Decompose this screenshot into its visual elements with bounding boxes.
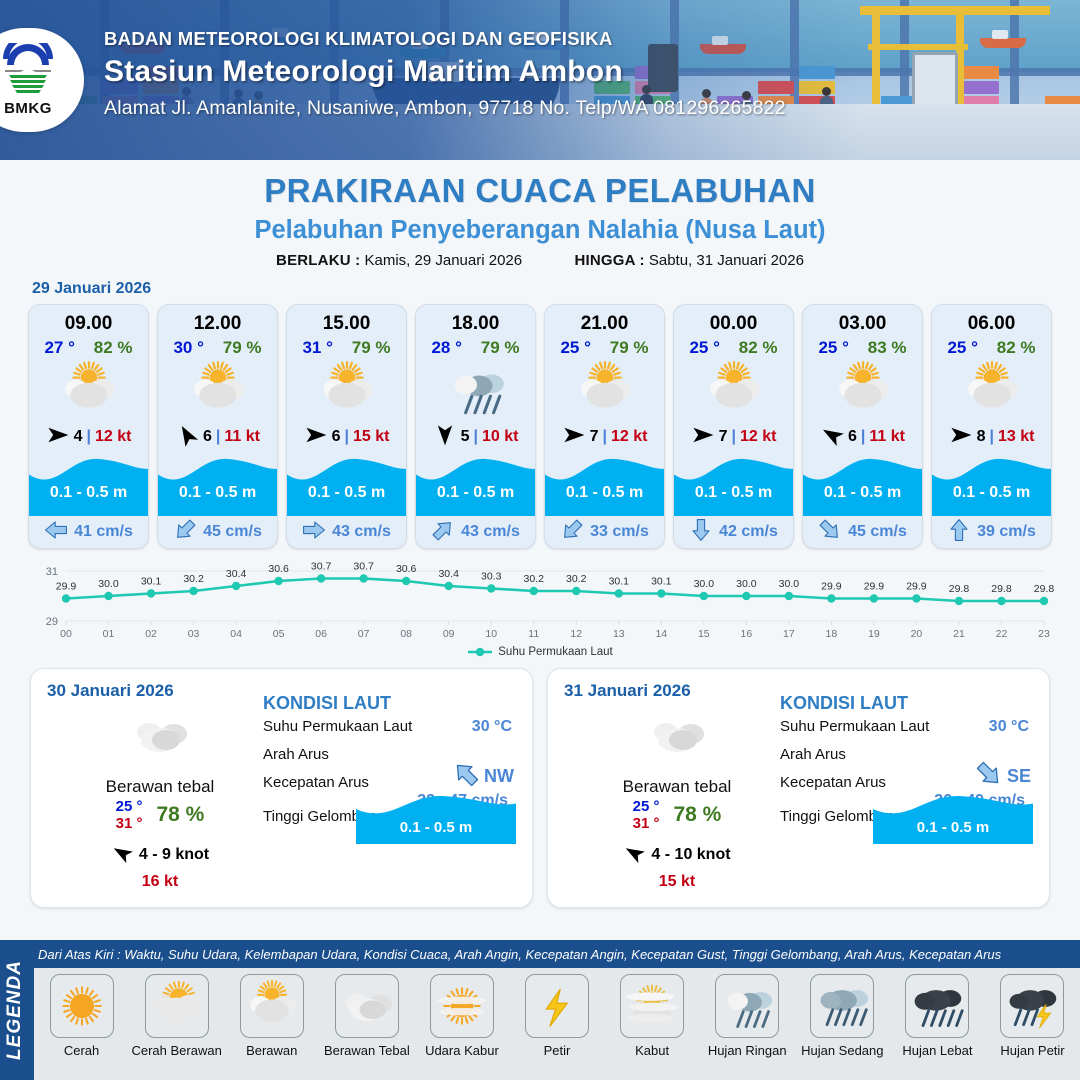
hourly-forecast-row: 09.0027 °82 %4|12 kt0.1 - 0.5 m41 cm/s12…: [0, 298, 1080, 549]
svg-text:19: 19: [868, 628, 880, 640]
wind-speed: 8: [977, 428, 986, 446]
wind-direction-arrow-icon: [562, 423, 586, 452]
sst-chart: 293129.90030.00130.10230.20330.40430.605…: [24, 557, 1056, 643]
legend-item-label: Berawan: [246, 1043, 297, 1058]
svg-text:30.6: 30.6: [396, 563, 417, 575]
wave-height-block: 0.1 - 0.5 m: [416, 454, 535, 516]
svg-text:30.2: 30.2: [183, 573, 204, 585]
divider: |: [989, 428, 993, 446]
legenda-vertical-label: LEGENDA: [0, 940, 32, 1080]
svg-text:31: 31: [46, 566, 58, 578]
daily-forecast-row: 30 Januari 2026Berawan tebal25 °31 °78 %…: [0, 658, 1080, 908]
svg-text:00: 00: [60, 628, 72, 640]
hourly-temperature: 30 °: [173, 338, 203, 358]
svg-text:29.8: 29.8: [949, 583, 970, 595]
weather-hujan-ringan-icon: [715, 974, 779, 1038]
label-current-direction: Arah Arus: [780, 746, 846, 763]
current-speed: 45 cm/s: [848, 523, 907, 541]
wind-speed: 6: [203, 428, 212, 446]
hourly-time: 15.00: [287, 305, 406, 335]
daily-forecast-card: 31 Januari 2026Berawan tebal25 °31 °78 %…: [547, 668, 1050, 908]
sea-conditions-title: KONDISI LAUT: [263, 693, 522, 714]
legend-item: Hujan Lebat: [890, 974, 985, 1058]
wind-speed: 5: [461, 428, 470, 446]
svg-text:30.7: 30.7: [311, 561, 332, 573]
weather-cerah-icon: [50, 974, 114, 1038]
wind-direction-arrow-icon: [304, 423, 328, 452]
daily-forecast-card: 30 Januari 2026Berawan tebal25 °31 °78 %…: [30, 668, 533, 908]
weather-hujan-lebat-icon: [905, 974, 969, 1038]
wind-direction-arrow-icon: [433, 423, 457, 452]
svg-text:04: 04: [230, 628, 242, 640]
svg-text:30.1: 30.1: [609, 576, 630, 588]
sst-chart-svg: 293129.90030.00130.10230.20330.40430.605…: [24, 557, 1056, 643]
label-current-speed: Kecepatan Arus: [263, 774, 369, 791]
forecast-day-label: 29 Januari 2026: [32, 280, 1080, 298]
daily-humidity: 78 %: [673, 803, 721, 827]
wave-height-block: 0.1 - 0.5 m: [29, 454, 148, 516]
svg-text:30.0: 30.0: [98, 578, 119, 590]
svg-text:30.0: 30.0: [779, 578, 800, 590]
weather-berawan-tebal-icon: [335, 974, 399, 1038]
hourly-humidity: 79 %: [610, 338, 649, 358]
legend-item: Hujan Sedang: [795, 974, 890, 1058]
svg-text:29.9: 29.9: [906, 581, 927, 593]
svg-text:10: 10: [485, 628, 497, 640]
hourly-time: 12.00: [158, 305, 277, 335]
validity-line: BERLAKU : Kamis, 29 Januari 2026 HINGGA …: [0, 252, 1080, 269]
wind-gust: 10 kt: [482, 428, 518, 446]
svg-text:30.4: 30.4: [226, 568, 247, 580]
weather-berawan-icon: [674, 360, 793, 420]
wind-gust: 11 kt: [869, 428, 905, 446]
weather-hujan-sedang-icon: [810, 974, 874, 1038]
weather-berawan-icon: [932, 360, 1051, 420]
svg-text:30.1: 30.1: [141, 576, 162, 588]
wind-gust: 13 kt: [998, 428, 1034, 446]
legend-item-label: Petir: [544, 1043, 571, 1058]
svg-text:13: 13: [613, 628, 625, 640]
wind-direction-arrow-icon: [949, 423, 973, 452]
current-direction-arrow-icon: [173, 518, 197, 547]
daily-wind-range: 4 - 10 knot: [651, 846, 730, 864]
legend-item: Berawan Tebal: [319, 974, 414, 1058]
wind-gust: 12 kt: [740, 428, 776, 446]
wave-height-block: 0.1 - 0.5 m: [287, 454, 406, 516]
svg-text:16: 16: [741, 628, 753, 640]
current-speed: 42 cm/s: [719, 523, 778, 541]
wave-height: 0.1 - 0.5 m: [29, 484, 148, 502]
hourly-temperature: 25 °: [947, 338, 977, 358]
label-sst: Suhu Permukaan Laut: [263, 718, 412, 735]
wind-gust: 12 kt: [95, 428, 131, 446]
chart-legend-marker-icon: [467, 647, 493, 657]
weather-hujan-petir-icon: [1000, 974, 1064, 1038]
station-name: Stasiun Meteorologi Maritim Ambon: [104, 55, 786, 89]
weather-hujan-ringan-icon: [416, 360, 535, 420]
wind-gust: 12 kt: [611, 428, 647, 446]
hourly-humidity: 82 %: [94, 338, 133, 358]
weather-petir-icon: [525, 974, 589, 1038]
svg-text:01: 01: [103, 628, 115, 640]
chart-legend-label: Suhu Permukaan Laut: [498, 646, 612, 658]
hourly-time: 06.00: [932, 305, 1051, 335]
wave-height: 0.1 - 0.5 m: [287, 484, 406, 502]
weather-berawan-icon: [240, 974, 304, 1038]
legend-strip: LEGENDA Dari Atas Kiri : Waktu, Suhu Uda…: [0, 940, 1080, 1080]
weather-berawan-tebal-icon: [582, 707, 772, 765]
wave-height-block: 0.1 - 0.5 m: [356, 792, 516, 844]
svg-text:29.9: 29.9: [56, 581, 77, 593]
hourly-time: 09.00: [29, 305, 148, 335]
wind-speed: 7: [719, 428, 728, 446]
svg-text:30.2: 30.2: [524, 573, 545, 585]
current-speed: 45 cm/s: [203, 523, 262, 541]
legend-item-label: Cerah: [64, 1043, 99, 1058]
svg-text:30.3: 30.3: [481, 571, 502, 583]
wind-gust: 15 kt: [353, 428, 389, 446]
value-sst: 30 °C: [989, 718, 1029, 736]
legend-item-label: Kabut: [635, 1043, 669, 1058]
current-direction-arrow-icon: [947, 518, 971, 547]
hourly-humidity: 79 %: [223, 338, 262, 358]
weather-cerah-berawan-icon: [145, 974, 209, 1038]
svg-text:29.8: 29.8: [1034, 583, 1055, 595]
legend-item: Cerah Berawan: [129, 974, 224, 1058]
current-speed: 43 cm/s: [461, 523, 520, 541]
current-direction-arrow-icon: [689, 518, 713, 547]
daily-temp-max: 31 °: [633, 815, 660, 832]
legend-item-label: Udara Kabur: [425, 1043, 499, 1058]
daily-gust: 16 kt: [65, 873, 255, 891]
hourly-time: 21.00: [545, 305, 664, 335]
divider: |: [473, 428, 477, 446]
divider: |: [344, 428, 348, 446]
current-speed: 33 cm/s: [590, 523, 649, 541]
divider: |: [731, 428, 735, 446]
weather-berawan-icon: [545, 360, 664, 420]
wind-direction-arrow-icon: [820, 423, 844, 452]
hourly-card: 00.0025 °82 %7|12 kt0.1 - 0.5 m42 cm/s: [673, 304, 794, 549]
hourly-temperature: 27 °: [44, 338, 74, 358]
weather-kabut-icon: [620, 974, 684, 1038]
weather-berawan-icon: [287, 360, 406, 420]
wave-height: 0.1 - 0.5 m: [158, 484, 277, 502]
legend-item: Hujan Petir: [985, 974, 1080, 1058]
hourly-card: 18.0028 °79 %5|10 kt0.1 - 0.5 m43 cm/s: [415, 304, 536, 549]
label-sst: Suhu Permukaan Laut: [780, 718, 929, 735]
label-current-speed: Kecepatan Arus: [780, 774, 886, 791]
wave-height: 0.1 - 0.5 m: [674, 484, 793, 502]
hourly-temperature: 28 °: [431, 338, 461, 358]
svg-text:07: 07: [358, 628, 370, 640]
wind-direction-arrow-icon: [691, 423, 715, 452]
svg-text:08: 08: [400, 628, 412, 640]
weather-berawan-icon: [29, 360, 148, 420]
daily-temp-min: 25 °: [116, 798, 143, 815]
svg-text:23: 23: [1038, 628, 1050, 640]
svg-text:03: 03: [188, 628, 200, 640]
wind-speed: 6: [848, 428, 857, 446]
divider: |: [216, 428, 220, 446]
svg-text:09: 09: [443, 628, 455, 640]
weather-berawan-icon: [803, 360, 922, 420]
daily-temp-min: 25 °: [633, 798, 660, 815]
current-direction-arrow-icon: [560, 518, 584, 547]
daily-humidity: 78 %: [156, 803, 204, 827]
legend-item-label: Hujan Sedang: [801, 1043, 883, 1058]
hourly-card: 15.0031 °79 %6|15 kt0.1 - 0.5 m43 cm/s: [286, 304, 407, 549]
wind-direction-arrow-icon: [46, 423, 70, 452]
wave-height: 0.1 - 0.5 m: [932, 484, 1051, 502]
svg-text:30.7: 30.7: [353, 561, 374, 573]
wind-speed: 6: [332, 428, 341, 446]
svg-text:02: 02: [145, 628, 157, 640]
hourly-humidity: 82 %: [739, 338, 778, 358]
current-direction-arrow-icon: [302, 518, 326, 547]
legend-item: Cerah: [34, 974, 129, 1058]
daily-condition: Berawan tebal: [65, 777, 255, 797]
hourly-time: 03.00: [803, 305, 922, 335]
wave-height: 0.1 - 0.5 m: [803, 484, 922, 502]
current-speed: 39 cm/s: [977, 523, 1036, 541]
valid-until-value: Sabtu, 31 Januari 2026: [649, 252, 804, 269]
current-speed: 41 cm/s: [74, 523, 133, 541]
current-direction-arrow-icon: [818, 518, 842, 547]
svg-text:30.0: 30.0: [694, 578, 715, 590]
valid-from-label: BERLAKU :: [276, 252, 360, 269]
divider: |: [602, 428, 606, 446]
wind-gust: 11 kt: [224, 428, 260, 446]
wind-speed: 4: [74, 428, 83, 446]
weather-berawan-tebal-icon: [65, 707, 255, 765]
bmkg-logo-text: BMKG: [4, 100, 52, 117]
wave-height: 0.1 - 0.5 m: [545, 484, 664, 502]
svg-text:30.4: 30.4: [438, 568, 459, 580]
hourly-humidity: 82 %: [997, 338, 1036, 358]
svg-text:05: 05: [273, 628, 285, 640]
hourly-temperature: 31 °: [302, 338, 332, 358]
wind-direction-arrow-icon: [623, 842, 645, 869]
hourly-card: 09.0027 °82 %4|12 kt0.1 - 0.5 m41 cm/s: [28, 304, 149, 549]
svg-text:29.9: 29.9: [864, 581, 885, 593]
hourly-humidity: 83 %: [868, 338, 907, 358]
hourly-humidity: 79 %: [481, 338, 520, 358]
wave-height-block: 0.1 - 0.5 m: [932, 454, 1051, 516]
daily-gust: 15 kt: [582, 873, 772, 891]
svg-text:11: 11: [528, 628, 539, 640]
svg-text:12: 12: [570, 628, 582, 640]
wave-height-block: 0.1 - 0.5 m: [674, 454, 793, 516]
hourly-temperature: 25 °: [689, 338, 719, 358]
value-sst: 30 °C: [472, 718, 512, 736]
hourly-temperature: 25 °: [818, 338, 848, 358]
page-title: PRAKIRAAN CUACA PELABUHAN: [0, 172, 1080, 210]
wave-height-block: 0.1 - 0.5 m: [873, 792, 1033, 844]
legend-item: Kabut: [605, 974, 700, 1058]
daily-wind-range: 4 - 9 knot: [139, 846, 209, 864]
legend-icon-row: CerahCerah BerawanBerawanBerawan TebalUd…: [34, 968, 1080, 1080]
svg-text:06: 06: [315, 628, 327, 640]
page-subtitle: Pelabuhan Penyeberangan Nalahia (Nusa La…: [0, 216, 1080, 245]
weather-udara-kabur-icon: [430, 974, 494, 1038]
legend-item-label: Hujan Petir: [1000, 1043, 1064, 1058]
svg-text:21: 21: [953, 628, 965, 640]
hourly-card: 06.0025 °82 %8|13 kt0.1 - 0.5 m39 cm/s: [931, 304, 1052, 549]
hourly-humidity: 79 %: [352, 338, 391, 358]
legend-item: Udara Kabur: [414, 974, 509, 1058]
current-direction-arrow-icon: [431, 518, 455, 547]
valid-from-value: Kamis, 29 Januari 2026: [365, 252, 523, 269]
legend-item-label: Hujan Ringan: [708, 1043, 787, 1058]
station-address: Alamat Jl. Amanlanite, Nusaniwe, Ambon, …: [104, 97, 786, 120]
svg-text:30.2: 30.2: [566, 573, 587, 585]
svg-text:20: 20: [911, 628, 923, 640]
current-speed: 43 cm/s: [332, 523, 391, 541]
hourly-card: 21.0025 °79 %7|12 kt0.1 - 0.5 m33 cm/s: [544, 304, 665, 549]
chart-legend: Suhu Permukaan Laut: [0, 646, 1080, 658]
hourly-card: 03.0025 °83 %6|11 kt0.1 - 0.5 m45 cm/s: [802, 304, 923, 549]
divider: |: [86, 428, 90, 446]
sea-conditions-title: KONDISI LAUT: [780, 693, 1039, 714]
page-header: BMKG BADAN METEOROLOGI KLIMATOLOGI DAN G…: [0, 0, 1080, 160]
svg-text:22: 22: [996, 628, 1008, 640]
legend-item: Berawan: [224, 974, 319, 1058]
wind-direction-arrow-icon: [175, 423, 199, 452]
legend-item-label: Berawan Tebal: [324, 1043, 410, 1058]
title-block: PRAKIRAAN CUACA PELABUHAN Pelabuhan Peny…: [0, 172, 1080, 269]
hourly-temperature: 25 °: [560, 338, 590, 358]
divider: |: [861, 428, 865, 446]
svg-text:30.0: 30.0: [736, 578, 757, 590]
wave-height: 0.1 - 0.5 m: [416, 484, 535, 502]
svg-text:30.1: 30.1: [651, 576, 672, 588]
legend-item-label: Hujan Lebat: [902, 1043, 972, 1058]
current-direction-arrow-icon: [44, 518, 68, 547]
weather-berawan-icon: [158, 360, 277, 420]
wave-height-block: 0.1 - 0.5 m: [158, 454, 277, 516]
svg-text:18: 18: [826, 628, 838, 640]
wind-direction-arrow-icon: [111, 842, 133, 869]
wave-height-block: 0.1 - 0.5 m: [545, 454, 664, 516]
label-current-direction: Arah Arus: [263, 746, 329, 763]
hourly-card: 12.0030 °79 %6|11 kt0.1 - 0.5 m45 cm/s: [157, 304, 278, 549]
daily-condition: Berawan tebal: [582, 777, 772, 797]
svg-text:17: 17: [783, 628, 795, 640]
legend-item: Hujan Ringan: [700, 974, 795, 1058]
daily-temp-max: 31 °: [116, 815, 143, 832]
wind-speed: 7: [590, 428, 599, 446]
legend-item-label: Cerah Berawan: [131, 1043, 221, 1058]
svg-text:29: 29: [46, 616, 58, 628]
hourly-time: 18.00: [416, 305, 535, 335]
svg-text:29.8: 29.8: [991, 583, 1012, 595]
agency-name: BADAN METEOROLOGI KLIMATOLOGI DAN GEOFIS…: [104, 28, 786, 50]
svg-text:29.9: 29.9: [821, 581, 842, 593]
legend-caption: Dari Atas Kiri : Waktu, Suhu Udara, Kele…: [38, 947, 1001, 962]
valid-until-label: HINGGA :: [574, 252, 644, 269]
hourly-time: 00.00: [674, 305, 793, 335]
wave-height-block: 0.1 - 0.5 m: [803, 454, 922, 516]
value-wave-height: 0.1 - 0.5 m: [356, 819, 516, 836]
value-wave-height: 0.1 - 0.5 m: [873, 819, 1033, 836]
svg-text:15: 15: [698, 628, 710, 640]
bmkg-logo-icon: [0, 43, 59, 99]
legend-item: Petir: [509, 974, 604, 1058]
header-text-block: BADAN METEOROLOGI KLIMATOLOGI DAN GEOFIS…: [104, 28, 786, 120]
svg-text:30.6: 30.6: [268, 563, 289, 575]
svg-text:14: 14: [655, 628, 667, 640]
